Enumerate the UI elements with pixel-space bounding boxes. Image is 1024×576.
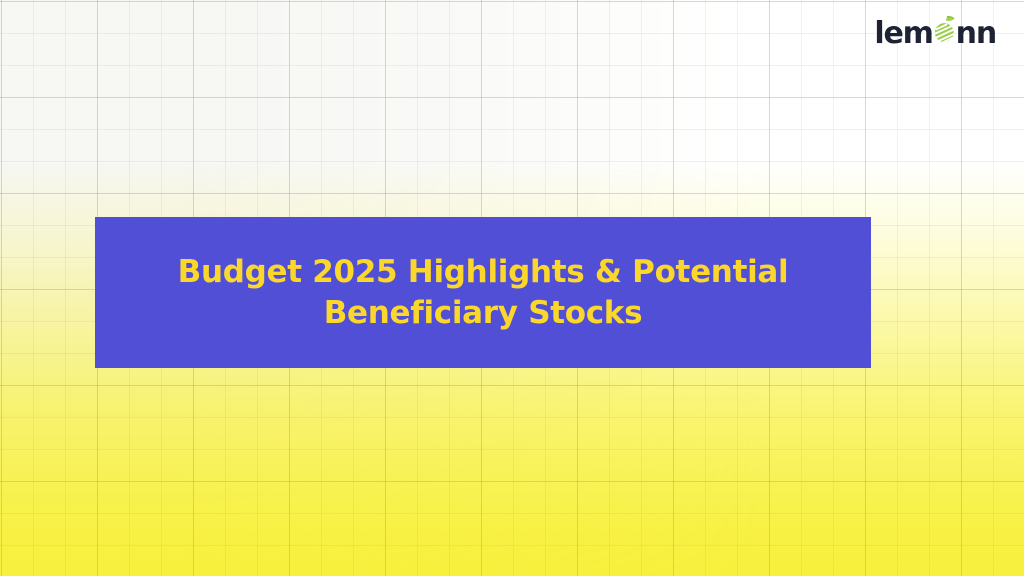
page-title-line-1: Budget 2025 Highlights & Potential	[178, 254, 789, 290]
title-banner: Budget 2025 Highlights & Potential Benef…	[95, 217, 871, 368]
page-title: Budget 2025 Highlights & Potential Benef…	[178, 252, 789, 333]
logo-text-after-mark: nn	[956, 19, 996, 49]
page-title-line-2: Beneficiary Stocks	[324, 295, 643, 331]
logo-text-before-mark: lem	[874, 19, 932, 49]
brand-logo[interactable]: lem	[874, 14, 996, 48]
logo-wordmark: lem	[874, 13, 996, 49]
green-lemon-icon	[933, 15, 956, 45]
presentation-slide: lem	[0, 0, 1024, 576]
